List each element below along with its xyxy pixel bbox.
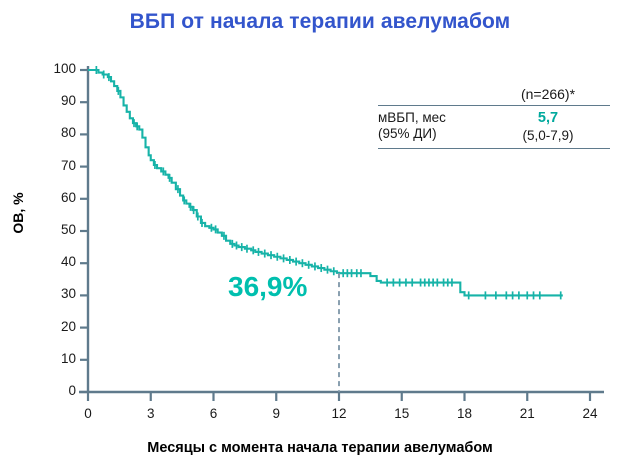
survival-chart-plot bbox=[0, 0, 640, 476]
x-tick-label-3: 3 bbox=[131, 406, 171, 421]
annotation-survival-percent: 36,9% bbox=[228, 271, 307, 303]
x-tick-label-15: 15 bbox=[382, 406, 422, 421]
stats-table-data-row: мВБП, мес (95% ДИ) 5,7 (5,0-7,9) bbox=[378, 106, 610, 148]
x-tick-label-24: 24 bbox=[570, 406, 610, 421]
x-tick-label-21: 21 bbox=[507, 406, 547, 421]
stats-ci-value: (5,0-7,9) bbox=[486, 127, 610, 144]
y-tick-label-80: 80 bbox=[30, 125, 76, 140]
stats-table-header-row: (n=266)* bbox=[378, 86, 610, 105]
y-tick-label-30: 30 bbox=[30, 286, 76, 301]
y-tick-label-20: 20 bbox=[30, 319, 76, 334]
y-tick-label-0: 0 bbox=[30, 383, 76, 398]
x-tick-label-9: 9 bbox=[256, 406, 296, 421]
y-tick-label-40: 40 bbox=[30, 254, 76, 269]
y-tick-label-60: 60 bbox=[30, 190, 76, 205]
stats-table-bottom-rule bbox=[378, 148, 610, 149]
stats-median-value: 5,7 bbox=[486, 110, 610, 127]
stats-row-label-line1: мВБП, мес bbox=[378, 110, 446, 125]
x-axis-title: Месяцы с момента начала терапии авелумаб… bbox=[0, 440, 640, 456]
y-tick-label-70: 70 bbox=[30, 158, 76, 173]
y-tick-label-10: 10 bbox=[30, 351, 76, 366]
y-tick-label-100: 100 bbox=[30, 61, 76, 76]
stats-table: (n=266)* мВБП, мес (95% ДИ) 5,7 (5,0-7,9… bbox=[378, 86, 610, 149]
stats-row-label: мВБП, мес (95% ДИ) bbox=[378, 110, 486, 142]
y-tick-label-90: 90 bbox=[30, 93, 76, 108]
x-tick-label-12: 12 bbox=[319, 406, 359, 421]
stats-row-value: 5,7 (5,0-7,9) bbox=[486, 110, 610, 144]
x-tick-label-6: 6 bbox=[194, 406, 234, 421]
y-axis-title: ОВ, % bbox=[10, 173, 26, 253]
x-tick-label-18: 18 bbox=[445, 406, 485, 421]
stats-header-n: (n=266)* bbox=[486, 86, 610, 102]
stats-row-label-line2: (95% ДИ) bbox=[378, 126, 437, 141]
y-tick-label-50: 50 bbox=[30, 222, 76, 237]
x-tick-label-0: 0 bbox=[68, 406, 108, 421]
